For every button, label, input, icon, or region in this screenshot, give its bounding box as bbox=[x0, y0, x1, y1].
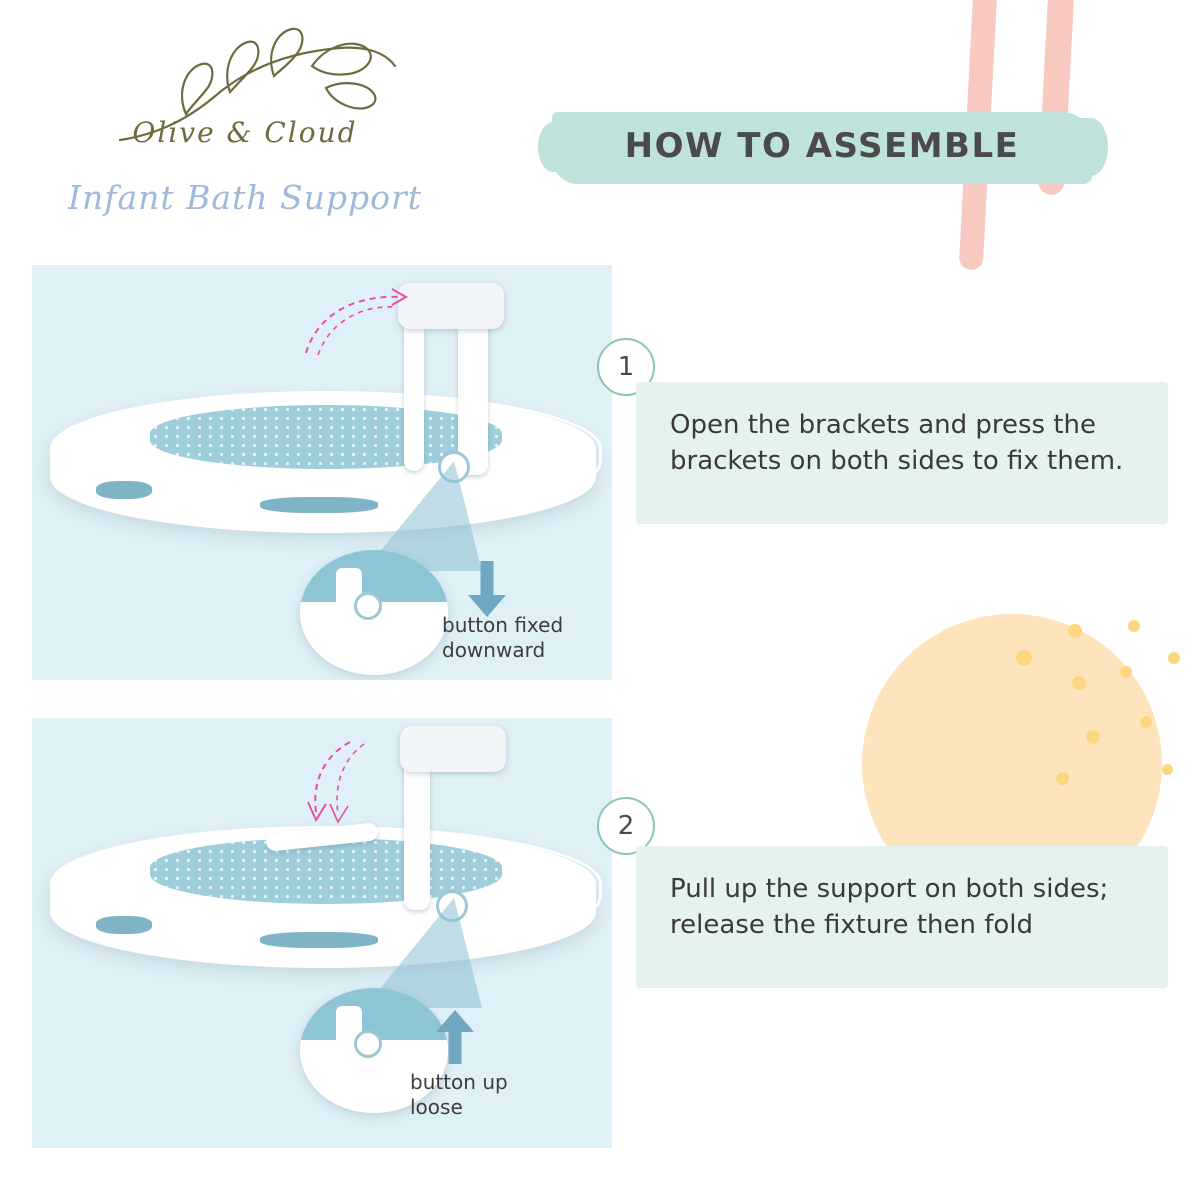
up-arrow-step2 bbox=[432, 1006, 478, 1066]
callout-label-step1-line2: downward bbox=[442, 638, 563, 663]
step-text-2: Pull up the support on both sides; relea… bbox=[636, 846, 1168, 988]
callout-label-step2-line2: loose bbox=[410, 1095, 508, 1120]
banner-title: HOW TO ASSEMBLE bbox=[552, 126, 1092, 166]
step-text-1: Open the brackets and press the brackets… bbox=[636, 382, 1168, 524]
magnifier-circle-step1 bbox=[300, 550, 448, 675]
sun-dot-9 bbox=[1056, 772, 1069, 785]
product-title: Infant Bath Support bbox=[30, 178, 460, 217]
magnifier-lock-button-step2 bbox=[354, 1030, 382, 1058]
callout-label-step2: button up loose bbox=[410, 1070, 508, 1120]
bath-tub-foot-left-step1 bbox=[96, 481, 152, 499]
down-arrow-step1 bbox=[464, 561, 510, 621]
step-2-illustration-panel: button up loose bbox=[32, 718, 612, 1148]
bracket-head-step2 bbox=[400, 726, 506, 772]
sun-dot-8 bbox=[1140, 716, 1152, 728]
brand-name: Olive & Cloud bbox=[95, 116, 395, 149]
sun-dot-4 bbox=[1072, 676, 1086, 690]
callout-label-step1-line1: button fixed bbox=[442, 613, 563, 638]
sun-dot-1 bbox=[1016, 650, 1032, 666]
sun-dot-7 bbox=[1086, 730, 1100, 744]
motion-arrow-step2 bbox=[294, 738, 404, 828]
sun-dot-5 bbox=[1120, 666, 1132, 678]
bracket-post-step2 bbox=[404, 752, 430, 910]
sun-dot-10 bbox=[1162, 764, 1173, 775]
step-1-illustration-panel: button fixed downward bbox=[32, 265, 612, 680]
magnifier-lock-button-step1 bbox=[354, 592, 382, 620]
motion-arrow-step1 bbox=[296, 281, 416, 361]
poster-canvas: Olive & Cloud Infant Bath Support HOW TO… bbox=[0, 0, 1200, 1200]
logo-branch-icon bbox=[90, 22, 400, 182]
sun-dot-3 bbox=[1128, 620, 1140, 632]
bracket-post-2-step1 bbox=[458, 305, 488, 475]
sun-dot-2 bbox=[1068, 624, 1082, 638]
sun-dot-6 bbox=[1168, 652, 1180, 664]
callout-label-step1: button fixed downward bbox=[442, 613, 563, 663]
callout-label-step2-line1: button up bbox=[410, 1070, 508, 1095]
bath-tub-foot-left-step2 bbox=[96, 916, 152, 934]
